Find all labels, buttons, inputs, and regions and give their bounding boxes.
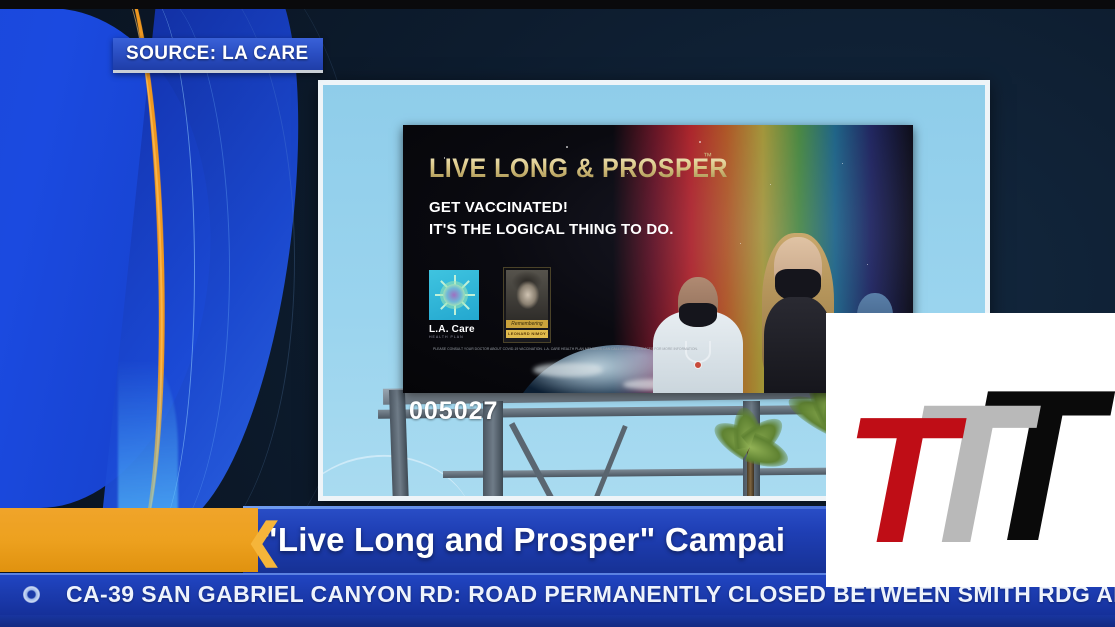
eye-bullet-icon	[23, 586, 40, 603]
billboard-brace-1	[509, 422, 555, 496]
figure-masked-doctor	[653, 243, 743, 393]
portrait-band-text: Remembering	[506, 320, 548, 328]
leonard-nimoy-portrait: Remembering LEONARD NIMOY	[503, 267, 551, 343]
portrait-image	[506, 270, 548, 324]
billboard-subline-2: IT'S THE LOGICAL THING TO DO.	[429, 219, 674, 241]
portrait-band-subtext: LEONARD NIMOY	[506, 330, 548, 338]
billboard-subline-1: GET VACCINATED!	[429, 197, 674, 219]
broadcast-screen: LIVE LONG & PROSPER ™ GET VACCINATED! IT…	[0, 0, 1115, 627]
la-care-sun-icon	[429, 270, 479, 320]
la-care-logo-sublabel: HEALTH PLAN	[429, 335, 479, 339]
lower-third-headline: "Live Long and Prosper" Campai	[262, 506, 785, 573]
letterbox-top-bar	[0, 0, 1115, 9]
la-care-logo: L.A. Care HEALTH PLAN	[429, 270, 479, 342]
chevron-left-icon: ❮	[245, 512, 284, 568]
la-care-logo-label: L.A. Care	[429, 324, 479, 335]
ttt-logo: T T T	[826, 313, 1115, 587]
palm-tree-2	[715, 416, 785, 496]
billboard-subline: GET VACCINATED! IT'S THE LOGICAL THING T…	[429, 197, 674, 241]
billboard-post-1	[389, 390, 409, 496]
billboard-trademark-icon: ™	[703, 151, 712, 161]
ticker-bottom-strip	[0, 615, 1115, 627]
lower-third-orange-block	[0, 508, 258, 572]
billboard-fine-print: PLEASE CONSULT YOUR DOCTOR ABOUT COVID-1…	[433, 347, 723, 352]
billboard-panel-number: 005027	[409, 397, 498, 426]
billboard-headline: LIVE LONG & PROSPER	[429, 153, 728, 184]
source-label: SOURCE: LA CARE	[113, 38, 323, 73]
ttt-logo-letter-red: T	[844, 391, 954, 571]
billboard-brace-2	[591, 425, 628, 496]
